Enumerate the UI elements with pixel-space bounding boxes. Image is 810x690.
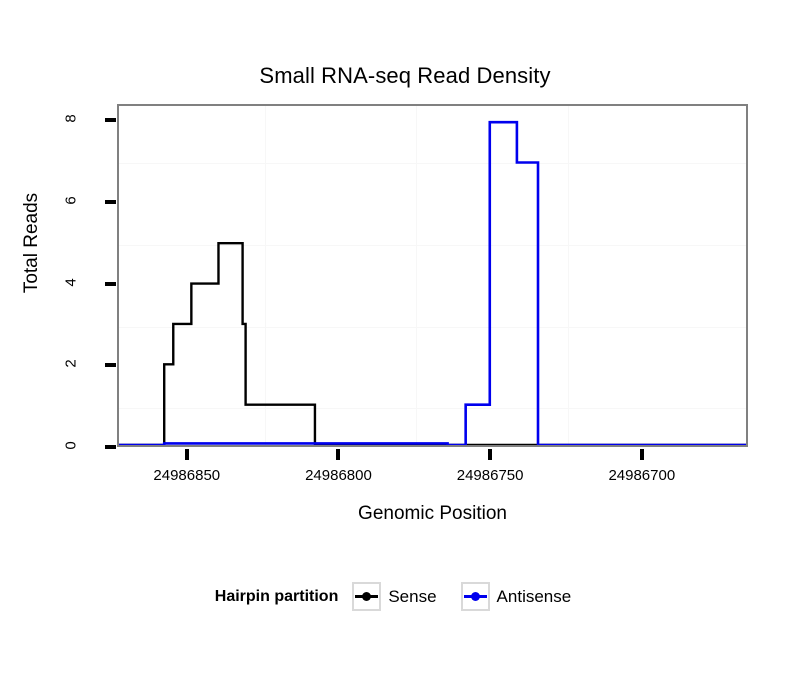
legend-entry-antisense[interactable]: Antisense (461, 582, 590, 611)
y-tick-label: 8 (63, 99, 80, 139)
legend-key-point-icon (362, 592, 371, 601)
legend-key-swatch (352, 582, 381, 611)
y-tick-mark (105, 363, 116, 367)
legend-label: Sense (388, 587, 436, 607)
y-tick-label: 4 (63, 262, 80, 302)
chart-title: Small RNA-seq Read Density (0, 63, 810, 89)
legend-key-inner (463, 584, 488, 609)
legend-key-swatch (461, 582, 490, 611)
y-tick-label: 6 (63, 181, 80, 221)
y-tick-mark (105, 200, 116, 204)
legend-entry-sense[interactable]: Sense (352, 582, 454, 611)
x-axis-title: Genomic Position (117, 503, 748, 525)
series-line-sense (119, 243, 746, 445)
y-tick-mark (105, 445, 116, 449)
x-tick-label: 24986800 (268, 467, 408, 484)
legend-key-inner (354, 584, 379, 609)
y-tick-mark (105, 118, 116, 122)
legend-entries: SenseAntisense (352, 582, 595, 611)
x-tick-label: 24986750 (420, 467, 560, 484)
y-tick-label: 0 (63, 426, 80, 466)
x-tick-label: 24986850 (117, 467, 257, 484)
plot-area (117, 104, 748, 447)
x-tick-mark (640, 449, 644, 460)
chart-figure: Small RNA-seq Read Density Total Reads 0… (0, 0, 810, 690)
x-tick-mark (185, 449, 189, 460)
legend: Hairpin partition SenseAntisense (0, 582, 810, 611)
y-tick-mark (105, 282, 116, 286)
x-tick-label: 24986700 (572, 467, 712, 484)
legend-key-point-icon (471, 592, 480, 601)
data-series-layer (119, 106, 746, 445)
x-tick-mark (336, 449, 340, 460)
legend-label: Antisense (497, 587, 572, 607)
y-axis-title: Total Reads (21, 153, 43, 333)
x-tick-mark (488, 449, 492, 460)
legend-title: Hairpin partition (215, 588, 339, 606)
y-tick-label: 2 (63, 344, 80, 384)
